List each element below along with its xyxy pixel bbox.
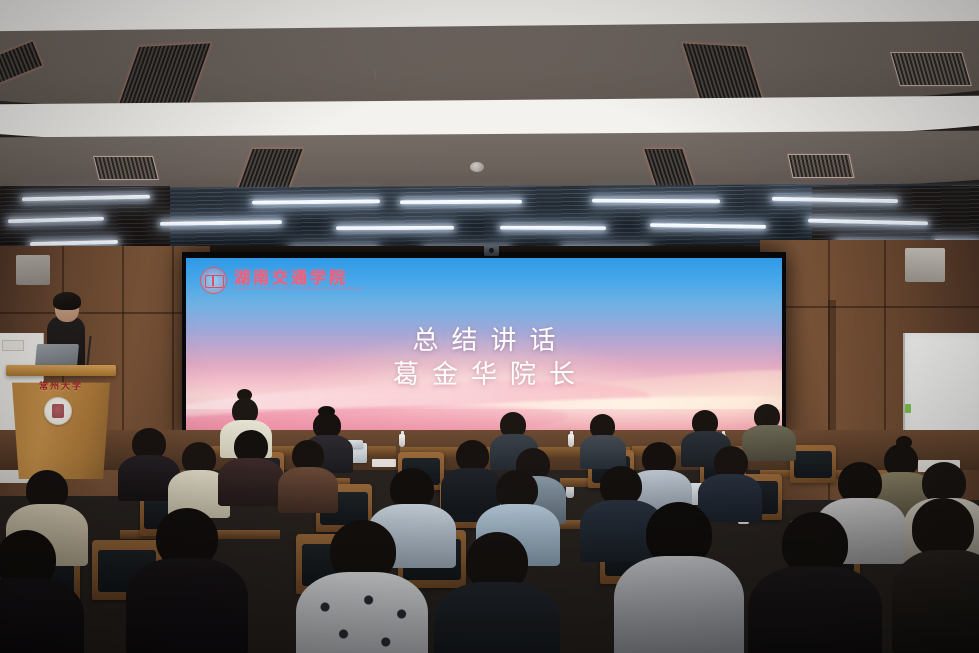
person-body [614, 556, 744, 653]
wall-mounted-speaker-left [16, 255, 50, 285]
ceiling-camera-icon [484, 245, 499, 256]
slide-subtitle: 葛金华院长 [186, 354, 782, 391]
ceiling-hanger-rod [416, 158, 418, 169]
person-body [698, 474, 762, 522]
wall-panel-seam [760, 306, 979, 308]
person-body [892, 550, 979, 653]
person-body [218, 458, 284, 506]
person-head [912, 498, 974, 558]
podium-top-surface [6, 365, 116, 376]
wall-outlet-plate[interactable] [2, 340, 24, 351]
led-tube-light [400, 200, 522, 205]
institution-name-en: HUNAN VOCATIONAL SCHOOL OF COMMUNICATION… [234, 288, 363, 291]
laptop [35, 344, 79, 366]
person-body [742, 425, 796, 461]
led-presentation-screen: 湖南交通学院 HUNAN VOCATIONAL SCHOOL OF COMMUN… [186, 258, 782, 430]
auditorium-chair [790, 445, 836, 483]
person-body [296, 572, 428, 653]
water-bottle [399, 434, 405, 447]
podium-label: 常州大学 [20, 379, 102, 392]
water-bottle [568, 434, 574, 447]
sprinkler-head [470, 162, 484, 172]
air-vent [890, 52, 972, 86]
university-seal-icon [44, 397, 72, 425]
led-tube-light [500, 226, 606, 231]
person-body [278, 467, 338, 513]
wall-panel-seam [0, 312, 212, 314]
auditorium-photo: 湖南交通学院 HUNAN VOCATIONAL SCHOOL OF COMMUN… [0, 0, 979, 653]
ceiling-hanger-rod [374, 69, 376, 80]
person-body [748, 566, 882, 653]
document-paper [372, 459, 396, 467]
air-vent [93, 156, 159, 180]
institution-name-cn: 湖南交通学院 [234, 270, 363, 286]
air-vent [787, 154, 854, 178]
presenter-hair [53, 292, 81, 310]
wall-mounted-speaker-right [905, 248, 945, 282]
chair-cushion [794, 451, 833, 478]
wall-switch-indicator[interactable] [905, 404, 911, 413]
person-body [434, 582, 560, 653]
person-body [0, 578, 84, 653]
person-body [580, 435, 626, 469]
institution-seal-icon [200, 267, 227, 294]
led-tube-light [336, 226, 454, 231]
slide-title: 总结讲话 [186, 320, 782, 357]
institution-logo-text: 湖南交通学院 HUNAN VOCATIONAL SCHOOL OF COMMUN… [234, 270, 363, 291]
institution-logo: 湖南交通学院 HUNAN VOCATIONAL SCHOOL OF COMMUN… [200, 267, 363, 294]
person-body [126, 558, 248, 653]
